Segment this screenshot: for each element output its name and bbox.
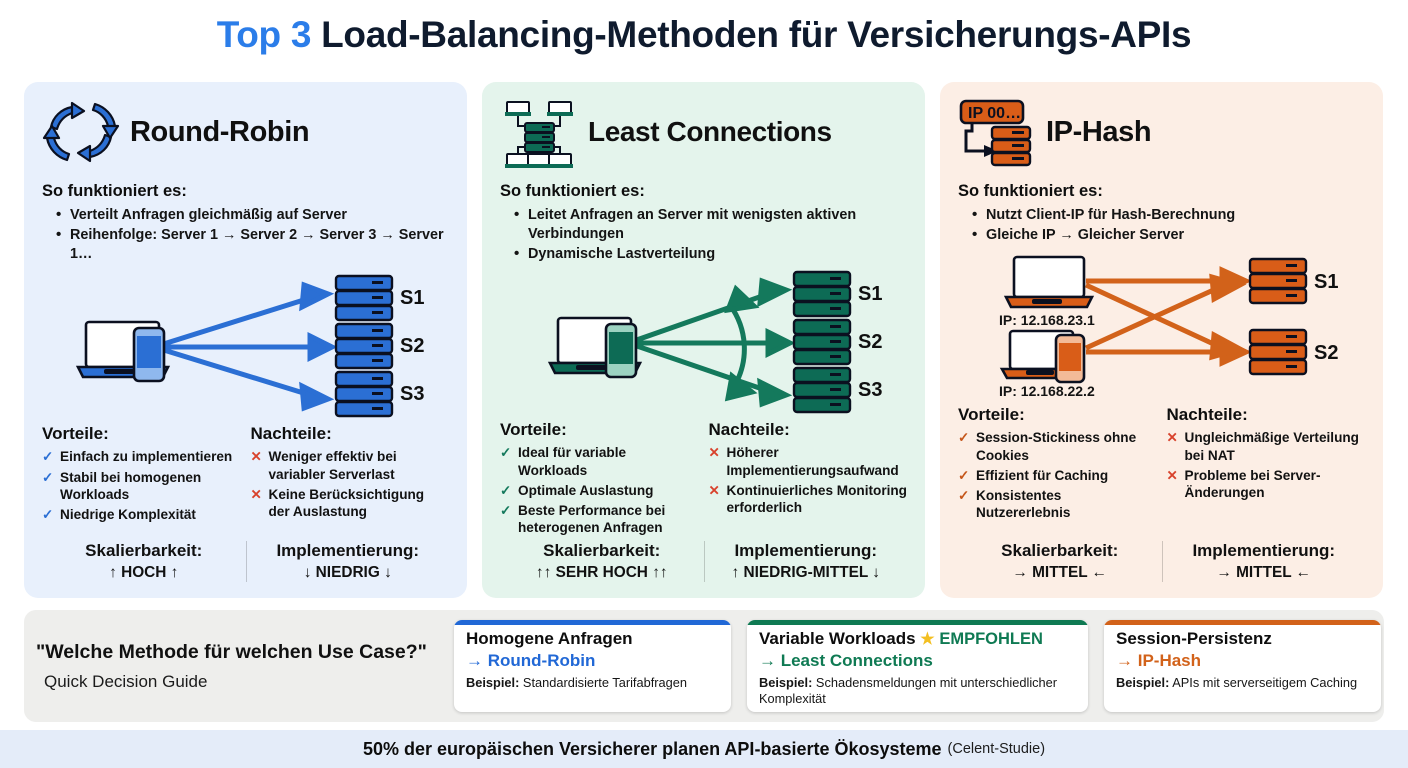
how-list: Nutzt Client-IP für Hash-Berechnung Glei… [972, 206, 1365, 245]
how-item: Gleiche IP → Gleicher Server [972, 226, 1365, 245]
how-heading: So funktioniert es: [958, 182, 1365, 201]
pros-list: ✓Ideal für variable Workloads ✓Optimale … [500, 444, 699, 536]
pros-heading: Vorteile: [500, 420, 699, 440]
pros-item: ✓Optimale Auslastung [500, 482, 699, 499]
how-list: Verteilt Anfragen gleichmäßig auf Server… [56, 206, 449, 264]
metric-scalability: Skalierbarkeit: → MITTEL ← [958, 541, 1162, 582]
pros-column: Vorteile: ✓Session-Stickiness ohne Cooki… [958, 405, 1157, 524]
cons-item: ✕Höherer Implementierungsaufwand [709, 444, 908, 479]
quick-decision-guide: "Welche Methode für welchen Use Case?" Q… [24, 610, 1384, 722]
pros-item: ✓Stabil bei homogenen Workloads [42, 469, 241, 504]
server-network-icon [500, 99, 578, 165]
accent-bar [454, 620, 731, 625]
pros-list: ✓Einfach zu implementieren ✓Stabil bei h… [42, 448, 241, 523]
pros-cons: Vorteile: ✓Ideal für variable Workloads … [500, 420, 907, 539]
infographic-page: Top 3 Load-Balancing-Methoden für Versic… [0, 0, 1408, 768]
metric-scalability: Skalierbarkeit: ↑↑ SEHR HOCH ↑↑ [500, 541, 704, 582]
footer-source: (Celent-Studie) [948, 741, 1046, 757]
footer-banner: 50% der europäischen Versicherer planen … [0, 730, 1408, 768]
example-text: APIs mit serverseitigem Caching [1172, 675, 1357, 690]
guide-card-method: → Least Connections [759, 651, 1076, 671]
server-label: S1 [1314, 271, 1338, 293]
check-icon: ✓ [500, 502, 511, 519]
cons-list: ✕Weniger effektiv bei variabler Serverla… [251, 448, 450, 520]
page-title-rest: Load-Balancing-Methoden für Versicherung… [321, 14, 1191, 55]
server-label: S2 [1314, 342, 1338, 364]
card-round-robin[interactable]: Round-Robin So funktioniert es: Verteilt… [24, 82, 467, 598]
pros-cons: Vorteile: ✓Session-Stickiness ohne Cooki… [958, 405, 1365, 524]
check-icon: ✓ [958, 487, 969, 504]
guide-question: "Welche Methode für welchen Use Case?" [36, 641, 454, 664]
cons-item: ✕Probleme bei Server-Änderungen [1167, 467, 1366, 502]
cons-item: ✕Weniger effektiv bei variabler Serverla… [251, 448, 450, 483]
server-label: S2 [858, 331, 882, 353]
accent-bar [1104, 620, 1381, 625]
laptop-phone-icon [78, 322, 168, 381]
pros-item: ✓Session-Stickiness ohne Cookies [958, 429, 1157, 464]
cons-heading: Nachteile: [709, 420, 908, 440]
guide-subtitle: Quick Decision Guide [36, 672, 454, 692]
metric-implementation: Implementierung: ↑ NIEDRIG-MITTEL ↓ [704, 541, 908, 582]
server-label: S2 [400, 335, 424, 357]
how-item: Nutzt Client-IP für Hash-Berechnung [972, 206, 1365, 225]
laptop-icon [1006, 257, 1092, 307]
guide-cards: Homogene Anfragen → Round-Robin Beispiel… [454, 620, 1381, 712]
metric-scalability: Skalierbarkeit: ↑ HOCH ↑ [42, 541, 246, 582]
cross-icon: ✕ [709, 444, 720, 461]
guide-card-method: → IP-Hash [1116, 651, 1369, 671]
pros-heading: Vorteile: [958, 405, 1157, 425]
client-ip-label: IP: 12.168.23.1 [999, 312, 1095, 328]
server-label: S1 [400, 287, 424, 309]
cross-icon: ✕ [251, 486, 262, 503]
pros-heading: Vorteile: [42, 424, 241, 444]
server-label: S3 [400, 383, 424, 405]
example-label: Beispiel: [1116, 675, 1169, 690]
diagram-least-connections: S1 S2 S3 [500, 270, 907, 416]
cons-column: Nachteile: ✕Ungleichmäßige Verteilung be… [1167, 405, 1366, 524]
page-title: Top 3 Load-Balancing-Methoden für Versic… [0, 14, 1408, 56]
cons-heading: Nachteile: [251, 424, 450, 444]
pros-item: ✓Einfach zu implementieren [42, 448, 241, 465]
circular-arrows-icon [42, 99, 120, 165]
card-title: Round-Robin [130, 116, 309, 149]
metric-implementation: Implementierung: ↓ NIEDRIG ↓ [246, 541, 450, 582]
cons-list: ✕Höherer Implementierungsaufwand ✕Kontin… [709, 444, 908, 516]
method-cards-row: Round-Robin So funktioniert es: Verteilt… [24, 82, 1384, 598]
how-item: Dynamische Lastverteilung [514, 245, 907, 264]
cons-list: ✕Ungleichmäßige Verteilung bei NAT ✕Prob… [1167, 429, 1366, 501]
guide-card-title: Variable Workloads ★ EMPFOHLEN [759, 629, 1076, 649]
server-label: S3 [858, 379, 882, 401]
example-label: Beispiel: [759, 675, 812, 690]
ip-hash-icon-label: IP 00… [968, 105, 1021, 122]
guide-card-title: Session-Persistenz [1116, 629, 1369, 649]
recommended-badge: EMPFOHLEN [939, 630, 1043, 648]
cons-column: Nachteile: ✕Höherer Implementierungsaufw… [709, 420, 908, 539]
card-header: IP 00… IP-Hash [958, 96, 1365, 168]
card-header: Round-Robin [42, 96, 449, 168]
cons-item: ✕Kontinuierliches Monitoring erforderlic… [709, 482, 908, 517]
pros-cons: Vorteile: ✓Einfach zu implementieren ✓St… [42, 424, 449, 526]
client-ip-label: IP: 12.168.22.2 [999, 383, 1095, 399]
cons-column: Nachteile: ✕Weniger effektiv bei variabl… [251, 424, 450, 526]
pros-item: ✓Effizient für Caching [958, 467, 1157, 484]
card-title: Least Connections [588, 116, 832, 148]
metrics-row: Skalierbarkeit: → MITTEL ← Implementieru… [958, 541, 1365, 582]
pros-item: ✓Niedrige Komplexität [42, 506, 241, 523]
cross-icon: ✕ [251, 448, 262, 465]
how-item: Reihenfolge: Server 1 → Server 2 → Serve… [56, 226, 449, 264]
pros-list: ✓Session-Stickiness ohne Cookies ✓Effizi… [958, 429, 1157, 521]
pros-item: ✓Beste Performance bei heterogenen Anfra… [500, 502, 699, 537]
star-icon: ★ [920, 631, 934, 648]
how-list: Leitet Anfragen an Server mit wenigsten … [514, 206, 907, 264]
guide-card-homogene-anfragen[interactable]: Homogene Anfragen → Round-Robin Beispiel… [454, 620, 731, 712]
guide-card-example: Beispiel: Standardisierte Tarifabfragen [466, 675, 719, 691]
how-item: Verteilt Anfragen gleichmäßig auf Server [56, 206, 449, 225]
check-icon: ✓ [500, 444, 511, 461]
cons-item: ✕Keine Berücksichtigung der Auslastung [251, 486, 450, 521]
guide-card-session-persistenz[interactable]: Session-Persistenz → IP-Hash Beispiel: A… [1104, 620, 1381, 712]
check-icon: ✓ [500, 482, 511, 499]
check-icon: ✓ [42, 448, 53, 465]
guide-card-title: Homogene Anfragen [466, 629, 719, 649]
card-header: Least Connections [500, 96, 907, 168]
ip-hash-icon: IP 00… [958, 99, 1036, 165]
cross-icon: ✕ [709, 482, 720, 499]
example-text: Standardisierte Tarifabfragen [523, 675, 687, 690]
cons-item: ✕Ungleichmäßige Verteilung bei NAT [1167, 429, 1366, 464]
cross-icon: ✕ [1167, 429, 1178, 446]
pros-column: Vorteile: ✓Einfach zu implementieren ✓St… [42, 424, 241, 526]
pros-item: ✓Ideal für variable Workloads [500, 444, 699, 479]
pros-column: Vorteile: ✓Ideal für variable Workloads … [500, 420, 699, 539]
guide-heading-block: "Welche Methode für welchen Use Case?" Q… [24, 641, 454, 692]
card-title: IP-Hash [1046, 116, 1151, 149]
how-item: Leitet Anfragen an Server mit wenigsten … [514, 206, 907, 244]
cross-icon: ✕ [1167, 467, 1178, 484]
footer-statistic: 50% der europäischen Versicherer planen … [363, 739, 942, 760]
check-icon: ✓ [958, 467, 969, 484]
guide-card-variable-workloads[interactable]: Variable Workloads ★ EMPFOHLEN → Least C… [747, 620, 1088, 712]
accent-bar [747, 620, 1088, 625]
page-title-accent: Top 3 [217, 14, 311, 55]
server-label: S1 [858, 283, 882, 305]
how-heading: So funktioniert es: [42, 182, 449, 201]
check-icon: ✓ [42, 469, 53, 486]
pros-item: ✓Konsistentes Nutzererlebnis [958, 487, 1157, 522]
laptop-phone-icon [550, 318, 640, 377]
card-ip-hash[interactable]: IP 00… IP-Hash So funktioniert es: [940, 82, 1383, 598]
laptop-phone-icon [1002, 331, 1084, 382]
metrics-row: Skalierbarkeit: ↑ HOCH ↑ Implementierung… [42, 541, 449, 582]
guide-card-method: → Round-Robin [466, 651, 719, 671]
example-label: Beispiel: [466, 675, 519, 690]
check-icon: ✓ [958, 429, 969, 446]
card-least-connections[interactable]: Least Connections So funktioniert es: Le… [482, 82, 925, 598]
check-icon: ✓ [42, 506, 53, 523]
cons-heading: Nachteile: [1167, 405, 1366, 425]
diagram-round-robin: S1 S2 S3 [42, 274, 449, 420]
guide-card-example: Beispiel: Schadensmeldungen mit untersch… [759, 675, 1076, 707]
how-heading: So funktioniert es: [500, 182, 907, 201]
metric-implementation: Implementierung: → MITTEL ← [1162, 541, 1366, 582]
metrics-row: Skalierbarkeit: ↑↑ SEHR HOCH ↑↑ Implemen… [500, 541, 907, 582]
diagram-ip-hash: IP: 12.168.23.1 IP: 12.168.22.2 [958, 255, 1365, 401]
guide-card-example: Beispiel: APIs mit serverseitigem Cachin… [1116, 675, 1369, 691]
